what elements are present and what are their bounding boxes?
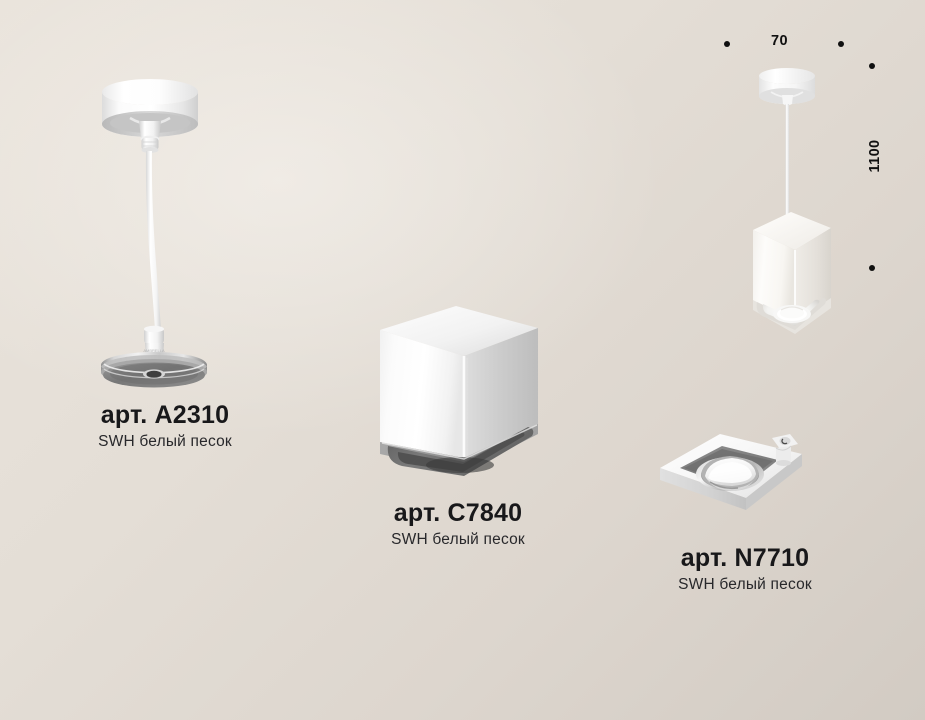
product-n7710-image <box>650 420 830 535</box>
dimension-dot-drop-top <box>869 63 875 69</box>
dimension-dot-width-right <box>838 41 844 47</box>
product-c7840-label: арт. C7840 SWH белый песок <box>333 500 583 549</box>
dimension-dot-width-left <box>724 41 730 47</box>
product-a2310-image: AMBRELLA <box>86 52 246 392</box>
product-n7710-finish: SWH белый песок <box>620 576 870 594</box>
dimension-dot-drop-bottom <box>869 265 875 271</box>
product-c7840-finish: SWH белый песок <box>333 531 583 549</box>
product-c7840-image <box>368 296 548 496</box>
dimension-width-value: 70 <box>771 33 788 49</box>
dimension-drop-value: 1100 <box>867 136 883 176</box>
product-n7710-label: арт. N7710 SWH белый песок <box>620 545 870 594</box>
product-a2310-label: арт. A2310 SWH белый песок <box>40 402 290 451</box>
product-n7710-art-code: арт. N7710 <box>620 545 870 571</box>
product-c7840-art-code: арт. C7840 <box>333 500 583 526</box>
product-diagram-canvas: AMBRELLA арт. A2310 SWH белый песок <box>0 0 925 720</box>
product-a2310-finish: SWH белый песок <box>40 433 290 451</box>
assembled-pendant-image <box>735 52 855 342</box>
product-a2310-art-code: арт. A2310 <box>40 402 290 428</box>
